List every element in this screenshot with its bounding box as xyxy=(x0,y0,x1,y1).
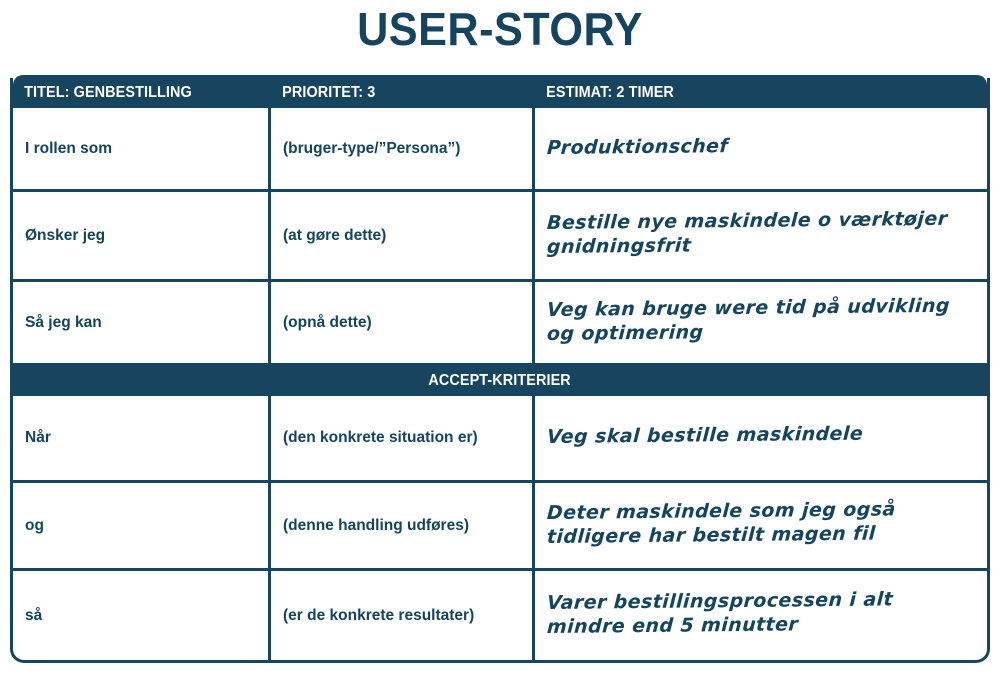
row-label: Når xyxy=(13,396,271,480)
table-row: I rollen som (bruger-type/”Persona”) Pro… xyxy=(13,108,987,192)
row-value-line: tidligere har bestilt magen fil xyxy=(546,522,896,549)
row-value-line: Veg kan bruge were tid på udvikling xyxy=(546,295,950,322)
table-header-band: TITEL: GENBESTILLING PRIORITET: 3 ESTIMA… xyxy=(13,75,987,108)
row-hint: (den konkrete situation er) xyxy=(271,396,535,480)
accept-criteria-band: ACCEPT-KRITERIER xyxy=(13,366,987,396)
table-row: så (er de konkrete resultater) Varer bes… xyxy=(13,571,987,660)
row-value-line: mindre end 5 minutter xyxy=(546,612,893,639)
row-label: så xyxy=(13,571,271,660)
row-hint: (denne handling udføres) xyxy=(271,483,535,568)
user-story-table: TITEL: GENBESTILLING PRIORITET: 3 ESTIMA… xyxy=(10,78,990,663)
row-value-line: og optimering xyxy=(546,318,950,345)
row-value: Veg kan bruge were tid på udvikling og o… xyxy=(535,282,987,363)
table-row: Når (den konkrete situation er) Veg skal… xyxy=(13,396,987,483)
row-value: Deter maskindele som jeg også tidligere … xyxy=(535,483,987,568)
row-value-line: Deter maskindele som jeg også xyxy=(546,499,896,526)
table-row: Ønsker jeg (at gøre dette) Bestille nye … xyxy=(13,192,987,282)
row-value-line: Produktionschef xyxy=(546,135,728,160)
row-label: og xyxy=(13,483,271,568)
row-value-line: gnidningsfrit xyxy=(546,231,948,258)
row-hint: (er de konkrete resultater) xyxy=(271,571,535,660)
row-label: Ønsker jeg xyxy=(13,192,271,279)
row-value-line: Veg skal bestille maskindele xyxy=(546,423,864,449)
accept-criteria-label: ACCEPT-KRITERIER xyxy=(429,372,571,390)
table-row: og (denne handling udføres) Deter maskin… xyxy=(13,483,987,571)
page-title: USER-STORY xyxy=(30,0,970,70)
header-titel: TITEL: GENBESTILLING xyxy=(13,84,253,102)
row-value: Veg skal bestille maskindele xyxy=(535,396,987,480)
row-value: Bestille nye maskindele o værktøjer gnid… xyxy=(535,192,987,279)
table-row: Så jeg kan (opnå dette) Veg kan bruge we… xyxy=(13,282,987,366)
row-value-line: Varer bestillingsprocessen i alt xyxy=(546,589,893,616)
row-hint: (opnå dette) xyxy=(271,282,535,363)
row-label: Så jeg kan xyxy=(13,282,271,363)
row-value-line: Bestille nye maskindele o værktøjer xyxy=(546,208,948,235)
row-value: Varer bestillingsprocessen i alt mindre … xyxy=(535,571,987,660)
row-hint: (bruger-type/”Persona”) xyxy=(271,108,535,189)
row-hint: (at gøre dette) xyxy=(271,192,535,279)
header-estimat: ESTIMAT: 2 TIMER xyxy=(535,84,955,102)
row-label: I rollen som xyxy=(13,108,271,189)
row-value: Produktionschef xyxy=(535,108,987,189)
header-prioritet: PRIORITET: 3 xyxy=(271,84,517,102)
user-story-canvas: USER-STORY TITEL: GENBESTILLING PRIORITE… xyxy=(0,0,1000,675)
